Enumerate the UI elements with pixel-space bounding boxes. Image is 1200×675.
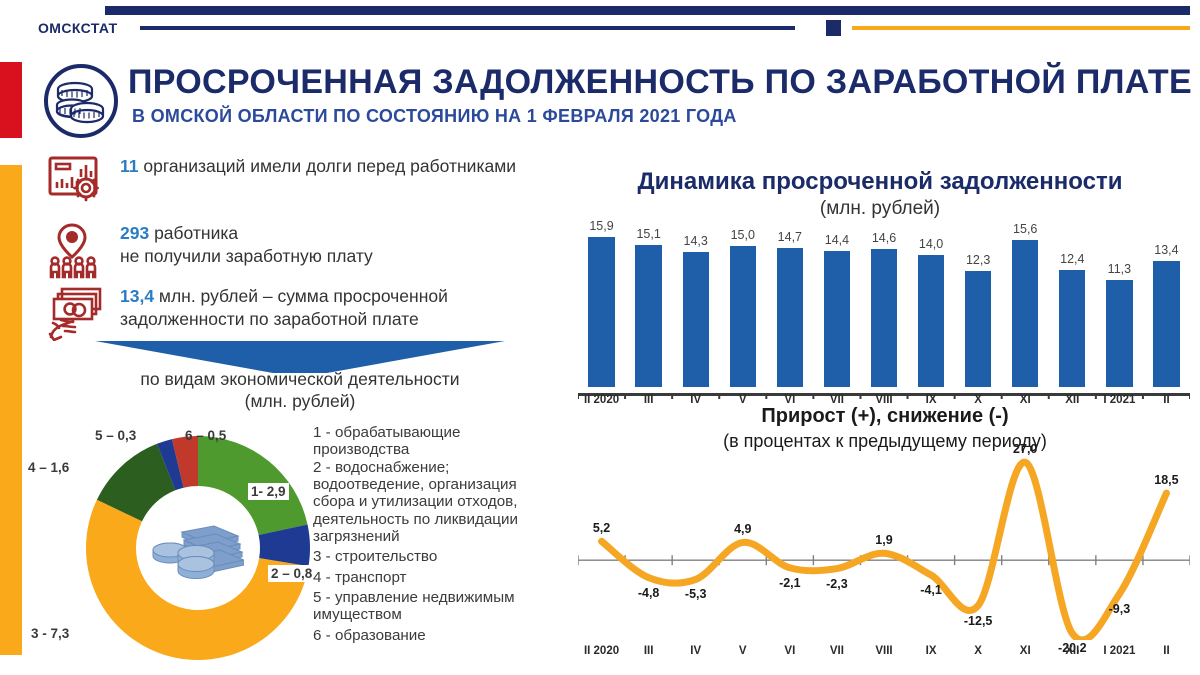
line-value-X: -12,5: [964, 614, 993, 628]
location-people-icon: [48, 222, 106, 285]
bar-IX: [918, 255, 944, 387]
line-xlabel-I 2021: I 2021: [1103, 645, 1135, 657]
bar-value-VII: 14,4: [825, 233, 849, 247]
donut-label-5: 5 – 0,3: [95, 428, 136, 443]
legend-line-12: 6 - образование: [313, 627, 583, 644]
line-xlabel-III: III: [644, 645, 654, 657]
bar-XI: [1012, 240, 1038, 387]
brand-label: ОМСКСТАТ: [38, 20, 118, 36]
stat-item-organizations: 11 организаций имели долги перед работни…: [48, 155, 548, 212]
line-xlabel-II 2020: II 2020: [584, 645, 619, 657]
donut-label-6: 6 – 0,5: [185, 428, 226, 443]
stat-value-amount: 13,4: [120, 286, 154, 306]
line-value-V: 4,9: [734, 522, 751, 536]
donut-label-2: 2 – 0,8: [268, 565, 315, 582]
coins-stack-icon: [152, 520, 244, 586]
infographic-page: ОМСКСТАТ ПРОСРОЧ: [0, 0, 1200, 675]
bar-value-II 2020: 15,9: [589, 219, 613, 233]
line-value-I 2021: -9,3: [1109, 602, 1131, 616]
line-value-II 2020: 5,2: [593, 521, 610, 535]
bar-IV: [683, 252, 709, 387]
bar-value-X: 12,3: [966, 253, 990, 267]
legend-line-11: имуществом: [313, 606, 583, 623]
bar-chart-subtitle: (млн. рублей): [570, 198, 1190, 220]
legend-line-8: 3 - строительство: [313, 548, 583, 565]
bar-VI: [777, 248, 803, 387]
line-xlabel-IV: IV: [690, 645, 701, 657]
legend-line-5: сбора и утилизации отходов,: [313, 493, 583, 510]
line-xlabel-XII: XII: [1065, 645, 1079, 657]
report-chart-gear-icon: [48, 155, 106, 212]
bar-chart-title: Динамика просроченной задолженности: [570, 168, 1190, 196]
line-xlabel-X: X: [974, 645, 982, 657]
bar-VII: [824, 251, 850, 387]
legend-line-10: 5 - управление недвижимым: [313, 589, 583, 606]
coins-circle-icon: [42, 62, 120, 140]
stat-item-amount: 13,4 млн. рублей – сумма просроченной за…: [48, 285, 568, 346]
legend-line-6: деятельность по ликвидации: [313, 511, 583, 528]
stat-text-amount: 13,4 млн. рублей – сумма просроченной за…: [120, 285, 568, 331]
line-xlabel-XI: XI: [1020, 645, 1031, 657]
line-xlabel-VI: VI: [784, 645, 795, 657]
top-navy-bar: [105, 6, 1190, 15]
line-xlabel-IX: IX: [926, 645, 937, 657]
bar-value-I 2021: 11,3: [1108, 262, 1131, 276]
line-chart-title: Прирост (+), снижение (-): [580, 405, 1190, 428]
donut-label-4: 4 – 1,6: [28, 460, 69, 475]
donut-label-1: 1- 2,9: [248, 483, 289, 500]
bar-value-III: 15,1: [636, 227, 660, 241]
legend-line-4: водоотведение, организация: [313, 476, 583, 493]
bar-value-IV: 14,3: [684, 234, 708, 248]
bar-I 2021: [1106, 280, 1132, 387]
line-chart-plot: 5,2-4,8-5,34,9-2,1-2,31,9-4,1-12,527,0-2…: [578, 455, 1190, 640]
line-series-path: [602, 462, 1167, 640]
stat-text-workers: 293 работника не получили заработную пла…: [120, 222, 373, 268]
legend-line-3: 2 - водоснабжение;: [313, 459, 583, 476]
accent-bar-red: [0, 62, 22, 138]
stat-text-organizations: 11 организаций имели долги перед работни…: [120, 155, 516, 178]
line-xlabel-VII: VII: [830, 645, 844, 657]
bar-chart-axis: [578, 386, 1190, 392]
accent-bar-orange: [0, 165, 22, 655]
header-rule-navy: [140, 26, 795, 30]
bar-value-XII: 12,4: [1060, 252, 1084, 266]
legend-line-2: производства: [313, 441, 583, 458]
stat-caption-amount: млн. рублей – сумма просроченной задолже…: [120, 286, 448, 329]
legend-line-7: загрязнений: [313, 528, 583, 545]
page-subtitle: В ОМСКОЙ ОБЛАСТИ ПО СОСТОЯНИЮ НА 1 ФЕВРА…: [132, 106, 1192, 127]
line-value-III: -4,8: [638, 586, 660, 600]
stat-value-workers: 293: [120, 223, 149, 243]
line-value-VIII: 1,9: [875, 533, 892, 547]
bar-II: [1153, 261, 1179, 387]
bar-value-V: 15,0: [731, 228, 755, 242]
header-rule-square: [826, 20, 841, 36]
line-xlabel-VIII: VIII: [875, 645, 892, 657]
bar-value-II: 13,4: [1154, 243, 1178, 257]
bar-chart-plot: 15,915,114,315,014,714,414,614,012,315,6…: [578, 222, 1190, 387]
bar-value-VI: 14,7: [778, 230, 802, 244]
donut-label-3: 3 - 7,3: [28, 625, 72, 642]
header-rule-orange: [852, 26, 1190, 30]
donut-legend: 1 - обрабатывающие производства 2 - водо…: [313, 424, 583, 644]
line-value-VI: -2,1: [779, 576, 801, 590]
line-chart-subtitle: (в процентах к предыдущему периоду): [580, 431, 1190, 452]
bar-VIII: [871, 249, 897, 387]
bar-V: [730, 246, 756, 387]
line-xlabel-V: V: [739, 645, 747, 657]
line-value-IV: -5,3: [685, 587, 707, 601]
bar-II 2020: [588, 237, 614, 387]
bar-III: [635, 245, 661, 387]
bar-value-IX: 14,0: [919, 237, 943, 251]
line-value-VII: -2,3: [826, 577, 848, 591]
legend-line-1: 1 - обрабатывающие: [313, 424, 583, 441]
line-value-II: 18,5: [1154, 473, 1178, 487]
stat-item-workers: 293 работника не получили заработную пла…: [48, 222, 548, 285]
bar-X: [965, 271, 991, 387]
donut-caption-line1: по видам экономической деятельности: [40, 368, 560, 390]
bar-value-XI: 15,6: [1013, 222, 1037, 236]
donut-caption-line2: (млн. рублей): [40, 390, 560, 412]
bar-value-VIII: 14,6: [872, 231, 896, 245]
line-chart-x-labels: II 2020IIIIVVVIVIIVIIIIXXXIXIII 2021II: [578, 645, 1190, 661]
line-xlabel-II: II: [1163, 645, 1169, 657]
page-title: ПРОСРОЧЕННАЯ ЗАДОЛЖЕННОСТЬ ПО ЗАРАБОТНОЙ…: [128, 63, 1188, 102]
bar-XII: [1059, 270, 1085, 387]
stat-value-organizations: 11: [120, 156, 139, 176]
stat-caption-workers: работника не получили заработную плату: [120, 223, 373, 266]
stat-caption-organizations: организаций имели долги перед работникам…: [139, 156, 517, 176]
donut-caption: по видам экономической деятельности (млн…: [40, 368, 560, 413]
line-value-XI: 27,0: [1013, 442, 1037, 456]
hand-money-icon: [48, 285, 106, 346]
legend-line-9: 4 - транспорт: [313, 569, 583, 586]
line-value-IX: -4,1: [920, 583, 942, 597]
